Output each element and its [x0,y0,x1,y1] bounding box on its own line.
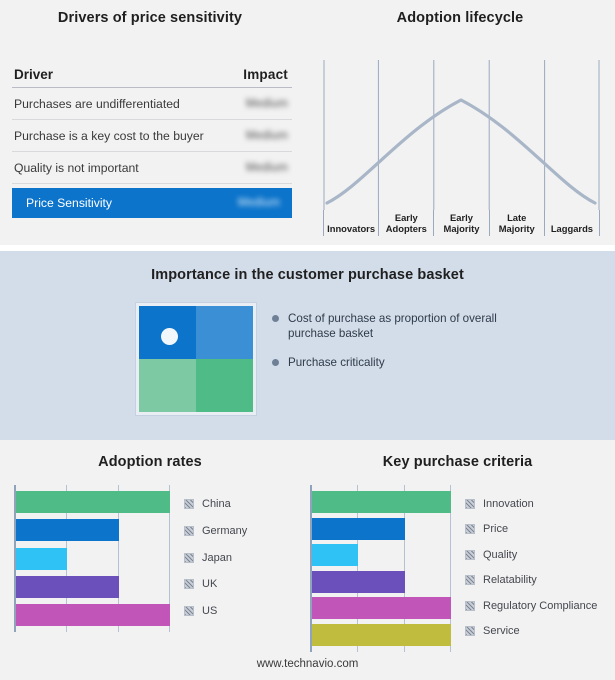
list-item: Cost of purchase as proportion of overal… [272,311,592,341]
drivers-panel-title: Drivers of price sensitivity [0,10,300,26]
segment-label-line2: Majority [499,223,535,234]
lifecycle-gridlines [324,60,599,210]
table-row[interactable]: Quality is not important Medium [12,152,292,184]
key-purchase-criteria-chart: InnovationPriceQualityRelatabilityRegula… [310,485,610,652]
impact-value: Medium [238,197,280,209]
table-row[interactable]: Purchases are undifferentiated Medium [12,88,292,120]
column-header-impact: Impact [243,67,288,82]
legend-item[interactable]: Japan [184,547,289,569]
purchase-basket-matrix [139,306,253,412]
key-purchase-criteria-legend: InnovationPriceQualityRelatabilityRegula… [451,485,610,652]
adoption-curve-path [327,100,595,203]
bar-regulatory-compliance[interactable] [312,597,451,619]
lifecycle-segment-late-majority: Late Majority [489,210,544,236]
impact-value: Medium [246,162,288,174]
segment-label-line1: Early [395,212,418,223]
legend-label: China [202,498,231,510]
legend-item[interactable]: UK [184,573,289,595]
hatched-square-icon [465,626,475,636]
matrix-quadrant-top-right[interactable] [196,306,253,359]
legend-item[interactable]: Quality [465,544,610,566]
legend-label: Price [483,523,508,535]
legend-item[interactable]: China [184,493,289,515]
bullet-icon [272,315,279,322]
legend-item[interactable]: Innovation [465,493,610,515]
legend-item[interactable]: Service [465,620,610,642]
segment-label-line1: Late [507,212,526,223]
hatched-square-icon [465,524,475,534]
purchase-basket-matrix-container [136,303,256,415]
lifecycle-panel-title: Adoption lifecycle [305,10,615,26]
bar-china[interactable] [16,491,170,513]
legend-label: Regulatory Compliance [483,600,597,612]
matrix-position-marker-dot [161,328,178,345]
driver-label: Quality is not important [14,161,139,175]
bar-japan[interactable] [16,548,67,570]
legend-item[interactable]: Price [465,518,610,540]
segment-label-line1: Early [450,212,473,223]
hatched-square-icon [184,526,194,536]
matrix-quadrant-bottom-right[interactable] [196,359,253,412]
list-item: Purchase criticality [272,355,592,370]
lifecycle-bell-curve-plot [323,60,600,210]
adoption-lifecycle-panel: Adoption lifecycle Innovators Early Adop… [305,0,615,245]
key-purchase-criteria-panel: Key purchase criteria InnovationPriceQua… [300,440,615,680]
bell-curve-svg [323,60,600,210]
adoption-rates-title: Adoption rates [0,454,300,470]
legend-item[interactable]: US [184,600,289,622]
drivers-table: Driver Impact Purchases are undifferenti… [12,62,292,218]
lifecycle-segment-innovators: Innovators [323,210,378,236]
impact-value: Medium [246,98,288,110]
legend-label: Germany [202,525,247,537]
impact-value: Medium [246,130,288,142]
hatched-square-icon [184,579,194,589]
bar-relatability[interactable] [312,571,405,593]
driver-label: Price Sensitivity [26,196,112,210]
hatched-square-icon [465,550,475,560]
basket-legend-label: Purchase criticality [288,355,385,370]
legend-item[interactable]: Germany [184,520,289,542]
basket-legend-label: Cost of purchase as proportion of overal… [288,311,503,341]
lifecycle-segment-early-adopters: Early Adopters [378,210,433,236]
hatched-square-icon [184,553,194,563]
driver-label: Purchase is a key cost to the buyer [14,129,204,143]
hatched-square-icon [465,575,475,585]
adoption-rates-legend: ChinaGermanyJapanUKUS [170,485,289,632]
legend-label: Quality [483,549,517,561]
bar-uk[interactable] [16,576,119,598]
adoption-rates-bars [16,491,170,626]
basket-panel-title: Importance in the customer purchase bask… [0,267,615,283]
legend-label: Service [483,625,520,637]
bar-service[interactable] [312,624,451,646]
key-purchase-criteria-title: Key purchase criteria [300,454,615,470]
matrix-quadrant-bottom-left[interactable] [139,359,196,412]
segment-label-line1: Laggards [551,223,593,234]
legend-item[interactable]: Relatability [465,569,610,591]
basket-legend: Cost of purchase as proportion of overal… [272,311,592,384]
legend-label: Japan [202,552,232,564]
bar-us[interactable] [16,604,170,626]
hatched-square-icon [184,499,194,509]
adoption-rates-panel: Adoption rates ChinaGermanyJapanUKUS [0,440,300,680]
adoption-rates-chart: ChinaGermanyJapanUKUS [14,485,289,632]
column-header-driver: Driver [14,67,53,82]
lifecycle-segment-labels: Innovators Early Adopters Early Majority… [323,210,600,236]
footer-url[interactable]: www.technavio.com [0,658,615,670]
table-row[interactable]: Purchase is a key cost to the buyer Medi… [12,120,292,152]
legend-item[interactable]: Regulatory Compliance [465,595,610,617]
segment-label-line1: Innovators [327,223,375,234]
hatched-square-icon [184,606,194,616]
legend-label: Relatability [483,574,537,586]
hatched-square-icon [465,601,475,611]
hatched-square-icon [465,499,475,509]
legend-label: US [202,605,217,617]
legend-label: Innovation [483,498,534,510]
legend-label: UK [202,578,217,590]
bar-quality[interactable] [312,544,358,566]
segment-label-line2: Majority [444,223,480,234]
lifecycle-segment-laggards: Laggards [544,210,600,236]
driver-label: Purchases are undifferentiated [14,97,180,111]
bar-price[interactable] [312,518,405,540]
bullet-icon [272,359,279,366]
segment-label-line2: Adopters [386,223,427,234]
key-purchase-criteria-bars [312,491,451,646]
key-purchase-criteria-plot-area [310,485,451,652]
table-row-selected-price-sensitivity[interactable]: Price Sensitivity Medium [12,188,292,218]
drivers-of-price-sensitivity-panel: Drivers of price sensitivity Driver Impa… [0,0,300,245]
drivers-table-header-row: Driver Impact [12,62,292,88]
bar-innovation[interactable] [312,491,451,513]
lifecycle-segment-early-majority: Early Majority [433,210,488,236]
adoption-rates-plot-area [14,485,170,632]
purchase-basket-panel: Importance in the customer purchase bask… [0,251,615,440]
bar-germany[interactable] [16,519,119,541]
